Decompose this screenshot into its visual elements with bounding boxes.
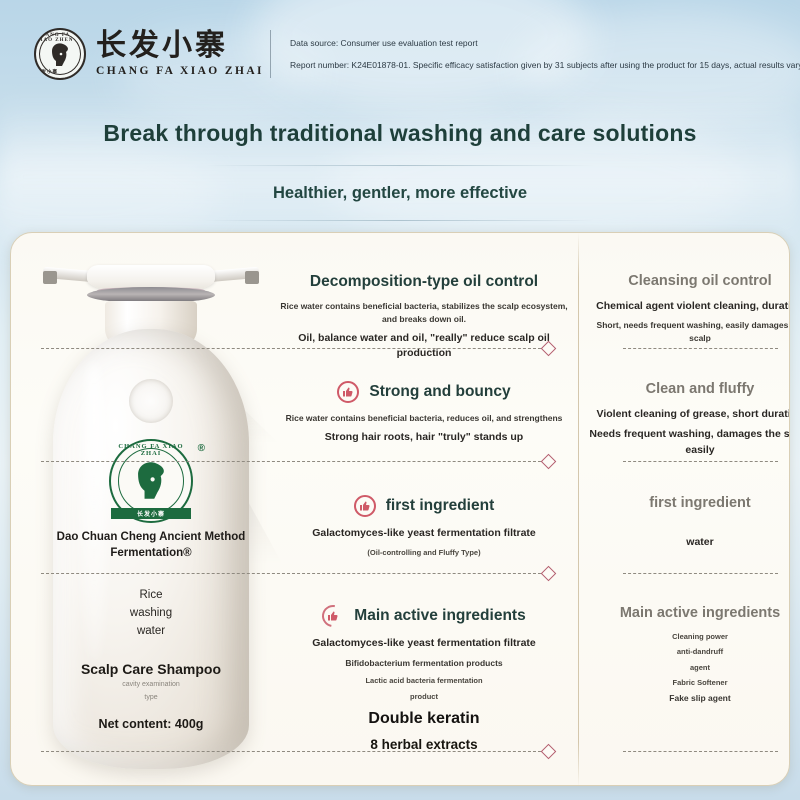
page-header: CHANG FA XIAO ZHEN 长发小寨 长发小寨 CHANG FA XI…: [0, 0, 800, 96]
row-separator-right: [623, 573, 778, 574]
row-left-line: product: [279, 691, 569, 702]
row-left-line: Lactic acid bacteria fermentation: [279, 675, 569, 686]
thumbs-up-icon: [337, 381, 359, 403]
row-separator-left: [41, 461, 541, 462]
report-info-block: Data source: Consumer use evaluation tes…: [290, 38, 800, 72]
brand-name-block: 长发小寨 CHANG FA XIAO ZHAI: [96, 31, 264, 78]
row-left-line: Rice water contains beneficial bacteria,…: [279, 300, 569, 326]
brand-lockup: CHANG FA XIAO ZHEN 长发小寨 长发小寨 CHANG FA XI…: [34, 28, 264, 80]
row-left-column: Strong and bouncyRice water contains ben…: [279, 381, 569, 446]
title-rule-bottom: [205, 220, 595, 221]
page-subtitle: Healthier, gentler, more effective: [0, 184, 800, 203]
brand-name-en: CHANG FA XIAO ZHAI: [96, 66, 264, 78]
row-separator-right: [623, 348, 778, 349]
row-left-heading: Decomposition-type oil control: [279, 273, 569, 291]
comparison-rows: Decomposition-type oil controlRice water…: [11, 233, 790, 786]
row-right-title: first ingredient: [589, 495, 790, 511]
diamond-marker-icon: [541, 454, 557, 470]
woman-head-icon: [48, 42, 72, 68]
row-left-title: Decomposition-type oil control: [310, 273, 538, 291]
seal-arc-bottom-text: 长发小寨: [36, 69, 84, 75]
row-right-column: first ingredientwater: [589, 495, 790, 551]
row-right-line: Needs frequent washing, damages the scal…: [589, 427, 790, 459]
diamond-marker-icon: [541, 566, 557, 582]
header-divider: [270, 30, 271, 78]
row-left-line: Oil, balance water and oil, "really" red…: [279, 331, 569, 363]
row-left-heading: Strong and bouncy: [279, 381, 569, 403]
row-left-line: Strong hair roots, hair "truly" stands u…: [279, 430, 569, 446]
row-right-line: agent: [589, 662, 790, 673]
row-left-heading: Main active ingredients: [279, 605, 569, 627]
report-number-text: Report number: K24E01878-01. Specific ef…: [290, 60, 800, 71]
title-rule-top: [205, 165, 595, 166]
thumbs-up-partial-icon: [318, 601, 349, 632]
row-right-title: Clean and fluffy: [589, 381, 790, 397]
row-left-line: Galactomyces-like yeast fermentation fil…: [279, 636, 569, 652]
row-separator-right: [623, 751, 778, 752]
row-right-column: Cleansing oil controlChemical agent viol…: [589, 273, 790, 344]
row-left-line: Double keratin: [279, 707, 569, 730]
row-right-line: Violent cleaning of grease, short durati…: [589, 407, 790, 423]
row-right-line: Chemical agent violent cleaning, duratio…: [589, 299, 790, 315]
row-left-line: Rice water contains beneficial bacteria,…: [279, 412, 569, 425]
row-left-column: first ingredientGalactomyces-like yeast …: [279, 495, 569, 558]
row-separator-left: [41, 348, 541, 349]
haze-overlay: [0, 90, 800, 250]
row-right-column: Clean and fluffyViolent cleaning of grea…: [589, 381, 790, 458]
row-right-line: Short, needs frequent washing, easily da…: [589, 319, 790, 345]
brand-seal-icon: CHANG FA XIAO ZHEN 长发小寨: [34, 28, 86, 80]
row-left-line: (Oil-controlling and Fluffy Type): [279, 547, 569, 558]
row-left-heading: first ingredient: [279, 495, 569, 517]
row-separator-right: [623, 461, 778, 462]
row-right-line: anti-dandruff: [589, 646, 790, 657]
row-left-line: Bifidobacterium fermentation products: [279, 657, 569, 670]
row-right-column: Main active ingredientsCleaning powerant…: [589, 605, 790, 705]
row-right-line: Fake slip agent: [589, 692, 790, 705]
row-left-column: Main active ingredientsGalactomyces-like…: [279, 605, 569, 755]
brand-name-cn: 长发小寨: [96, 31, 264, 61]
row-right-title: Main active ingredients: [589, 605, 790, 621]
row-separator-left: [41, 751, 541, 752]
comparison-card: ® CHANG FA XIAO ZHAI 长发小寨 Dao Chuan Chen…: [10, 232, 790, 786]
row-right-title: Cleansing oil control: [589, 273, 790, 289]
row-right-line: Cleaning power: [589, 631, 790, 642]
row-left-title: Main active ingredients: [354, 607, 525, 625]
row-right-line: Fabric Softener: [589, 677, 790, 688]
row-right-line: water: [589, 535, 790, 551]
thumbs-up-icon: [354, 495, 376, 517]
data-source-text: Data source: Consumer use evaluation tes…: [290, 38, 800, 49]
page-title: Break through traditional washing and ca…: [0, 120, 800, 147]
row-left-title: Strong and bouncy: [369, 383, 510, 401]
row-left-line: Galactomyces-like yeast fermentation fil…: [279, 526, 569, 542]
row-left-title: first ingredient: [386, 497, 495, 515]
row-separator-left: [41, 573, 541, 574]
